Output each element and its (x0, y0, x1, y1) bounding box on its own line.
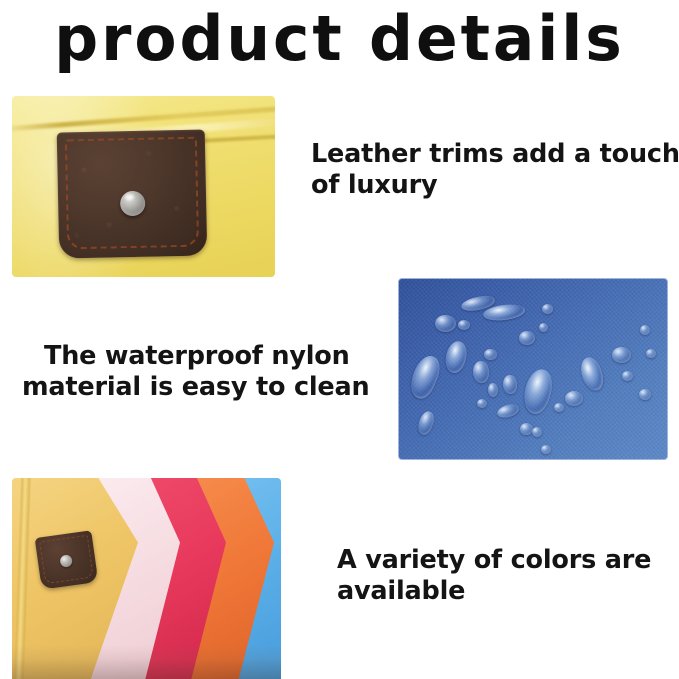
water-droplet (484, 349, 497, 360)
snap-button-icon (120, 191, 146, 217)
page-title: product details (5, 2, 673, 76)
color-variety-photo (12, 478, 281, 679)
leather-trim-photo (12, 96, 275, 277)
water-droplet (639, 389, 651, 400)
water-droplet (488, 383, 498, 397)
caption-leather-trims: Leather trims add a touch of luxury (311, 139, 671, 201)
snap-button-icon (59, 554, 73, 568)
water-droplet (646, 349, 656, 358)
leather-tab-small (35, 530, 99, 589)
caption-leather-line2: of luxury (311, 170, 671, 201)
water-droplet (473, 361, 489, 383)
water-droplet (503, 375, 517, 394)
water-droplet (622, 371, 633, 381)
product-details-infographic: product details Leather trims add a touc… (0, 0, 679, 679)
water-droplet (565, 391, 583, 406)
water-droplet (539, 323, 548, 332)
water-droplet (612, 347, 631, 363)
water-droplet (477, 399, 487, 408)
caption-colors-line2: available (337, 576, 667, 607)
water-droplet (435, 315, 456, 332)
waterproof-nylon-photo (398, 278, 668, 460)
caption-leather-line1: Leather trims add a touch (311, 139, 671, 170)
caption-waterproof-line2: material is easy to clean (22, 372, 372, 403)
caption-colors-line1: A variety of colors are (337, 545, 667, 576)
water-droplet (542, 304, 553, 314)
caption-waterproof-nylon: The waterproof nylon material is easy to… (22, 341, 372, 403)
water-droplet (554, 403, 564, 412)
water-droplet (519, 331, 535, 345)
caption-color-variety: A variety of colors are available (337, 545, 667, 607)
leather-tab (57, 129, 208, 258)
water-droplet (532, 427, 542, 437)
water-droplet (640, 325, 650, 335)
water-droplet (458, 320, 470, 330)
water-droplet (541, 445, 551, 454)
water-droplet (520, 423, 533, 435)
caption-waterproof-line1: The waterproof nylon (22, 341, 372, 372)
